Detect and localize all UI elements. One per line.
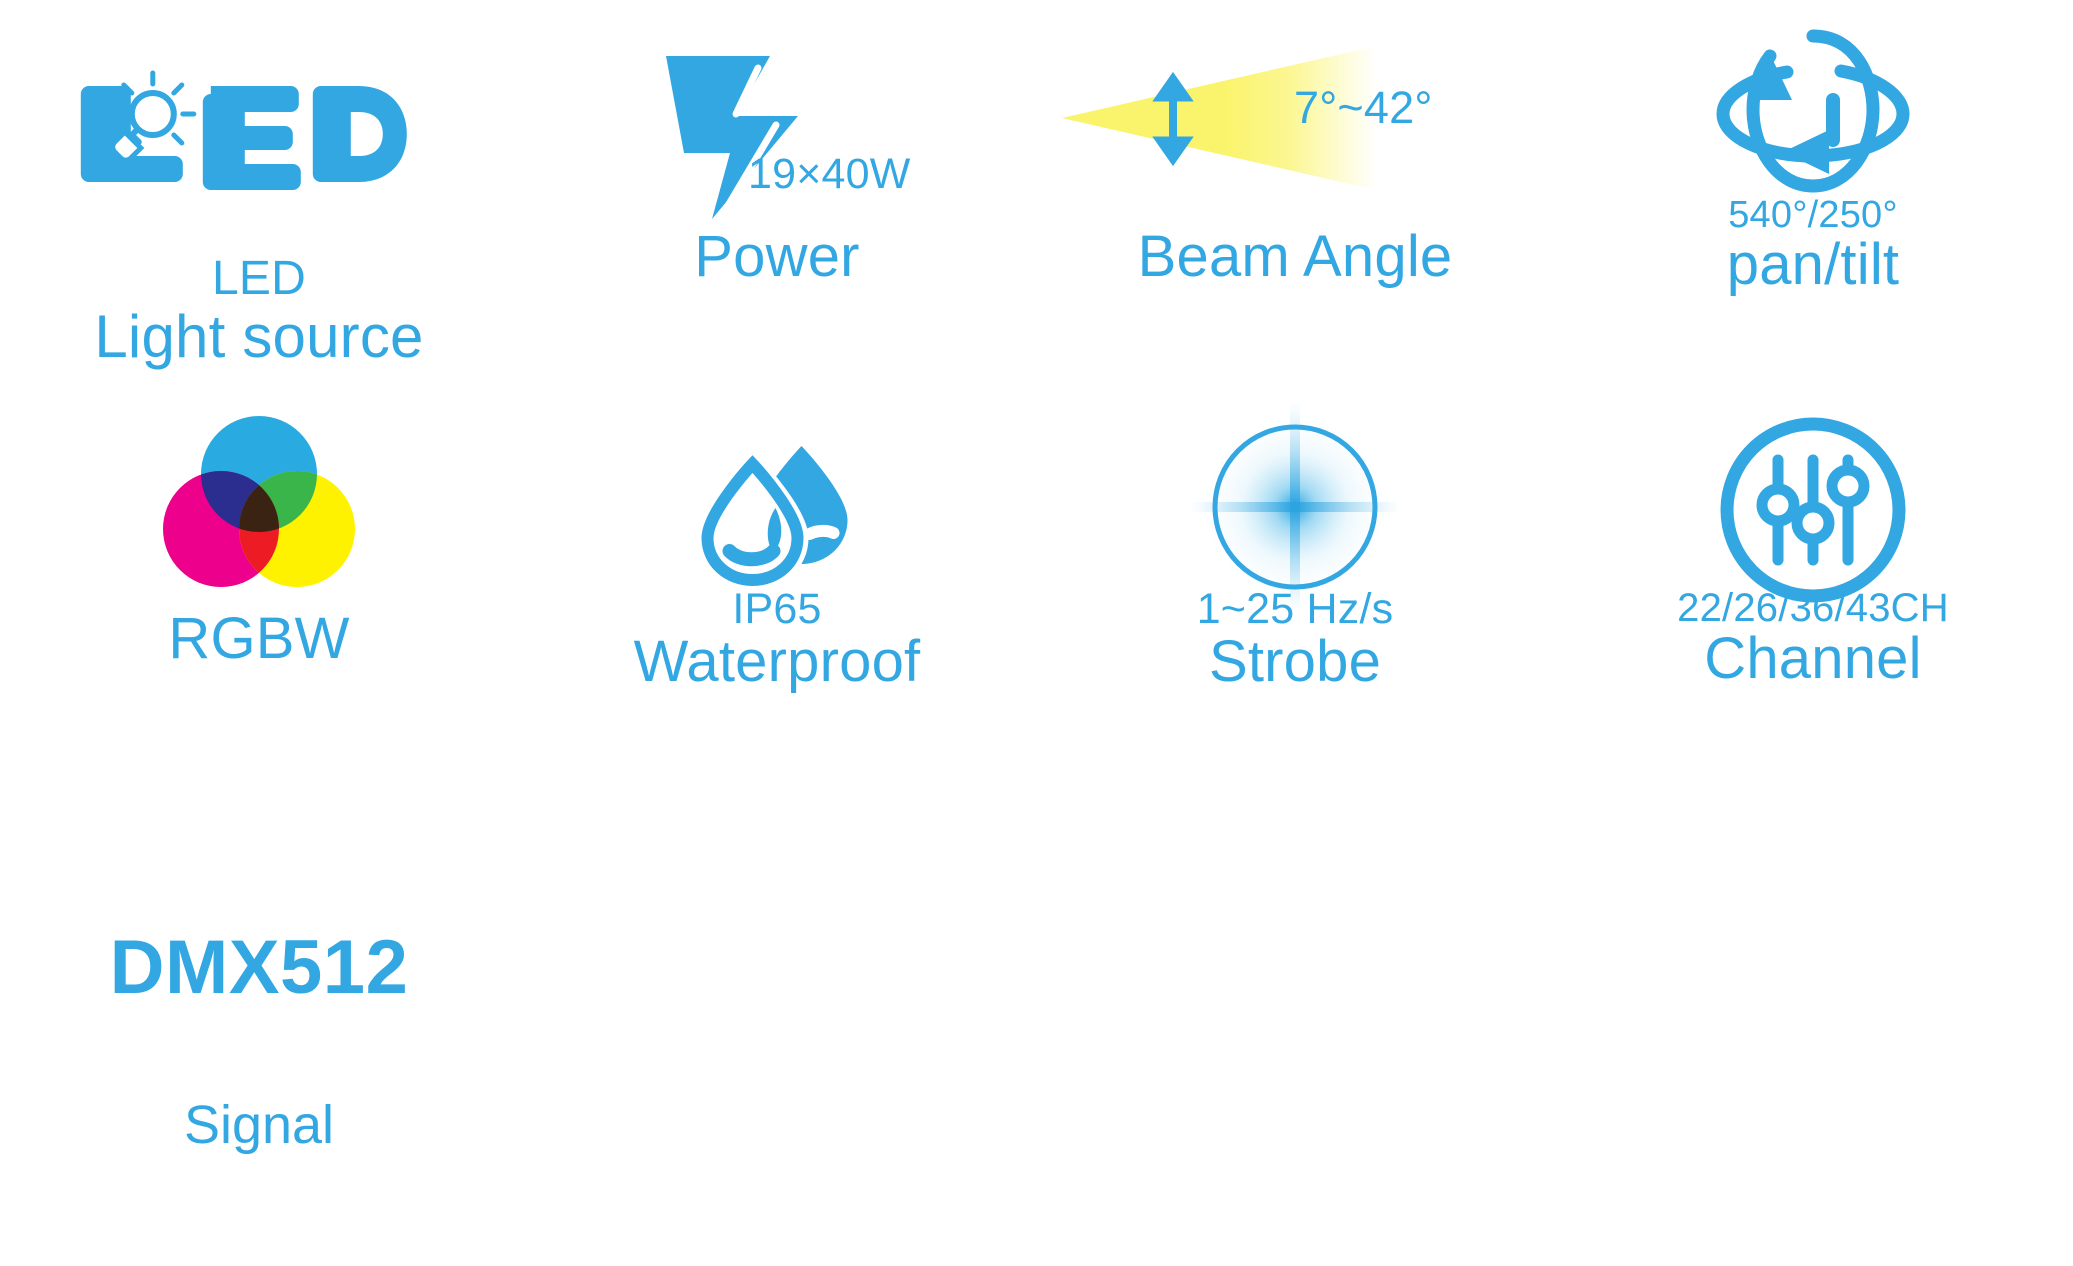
- spec-cell-pan-tilt: 540°/250° pan/tilt: [1554, 0, 2072, 410]
- power-value: 19×40W: [748, 150, 911, 199]
- spec-cell-rgbw: RGBW: [0, 410, 518, 820]
- strobe-labels: 1~25 Hz/s Strobe: [1036, 588, 1554, 691]
- waterproof-title: Waterproof: [518, 633, 1036, 691]
- power-title: Power: [518, 228, 1036, 286]
- spec-cell-waterproof: IP65 Waterproof: [518, 410, 1036, 820]
- spec-cell-light-source: LED Light source: [0, 0, 518, 410]
- light-source-value: LED: [0, 255, 518, 303]
- signal-value: DMX512: [0, 930, 518, 1006]
- rotation-arrows-icon: [1713, 18, 1913, 203]
- beam-angle-value: 7°~42°: [1294, 82, 1433, 134]
- rgbw-title: RGBW: [0, 610, 518, 668]
- signal-title: Signal: [0, 1098, 518, 1152]
- pan-tilt-labels: 540°/250° pan/tilt: [1554, 196, 2072, 294]
- rgbw-labels: RGBW: [0, 610, 518, 668]
- beam-angle-title: Beam Angle: [1036, 228, 1554, 286]
- waterproof-labels: IP65 Waterproof: [518, 588, 1036, 691]
- strobe-value: 1~25 Hz/s: [1036, 588, 1554, 631]
- sliders-circle-icon: [1713, 410, 1913, 610]
- flash-circle-icon: [1190, 402, 1400, 612]
- spec-cell-beam-angle: 7°~42° Beam Angle: [1036, 0, 1554, 410]
- channel-labels: 22/26/36/43CH Channel: [1554, 588, 2072, 688]
- pan-tilt-title: pan/tilt: [1554, 236, 2072, 294]
- spec-infographic: LED Light source 19×40W Power: [0, 0, 2073, 1266]
- spec-cell-signal: DMX512 Signal: [0, 930, 518, 1152]
- led-wordmark-icon: [81, 78, 411, 188]
- beam-angle-labels: Beam Angle: [1036, 228, 1554, 286]
- spec-cell-strobe: 1~25 Hz/s Strobe: [1036, 410, 1554, 820]
- pan-tilt-value: 540°/250°: [1554, 196, 2072, 234]
- power-labels: Power: [518, 228, 1036, 286]
- light-source-labels: LED Light source: [0, 255, 518, 367]
- water-drop-icon: [690, 438, 865, 583]
- channel-title: Channel: [1554, 630, 2072, 688]
- waterproof-value: IP65: [518, 588, 1036, 631]
- light-source-title: Light source: [0, 307, 518, 367]
- strobe-title: Strobe: [1036, 633, 1554, 691]
- spec-cell-power: 19×40W Power: [518, 0, 1036, 410]
- channel-value: 22/26/36/43CH: [1554, 588, 2072, 628]
- spec-grid: LED Light source 19×40W Power: [0, 0, 2073, 820]
- spec-cell-channel: 22/26/36/43CH Channel: [1554, 410, 2072, 820]
- color-circles-icon: [159, 414, 359, 584]
